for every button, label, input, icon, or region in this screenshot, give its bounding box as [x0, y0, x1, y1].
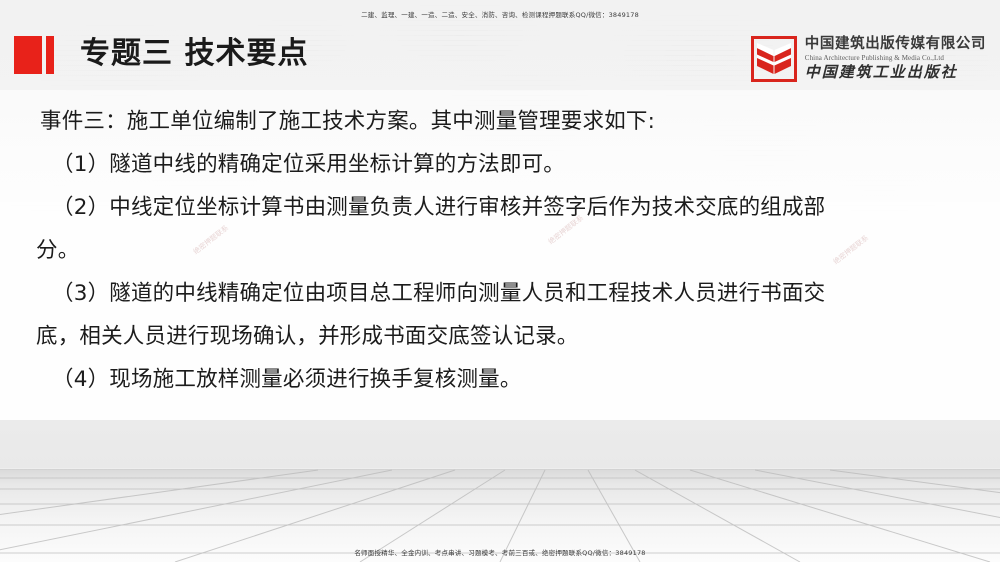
list-item-3-line-2: 底，相关人员进行现场确认，并形成书面交底签认记录。	[0, 315, 1000, 358]
list-item-2-line-2: 分。	[0, 229, 1000, 272]
watermark-bottom: 名师面授精华、全金内训、考点串讲、习题模考、考前三百或、绝密押题联系QQ/微信：…	[0, 547, 1000, 557]
list-item-4: （4）现场施工放样测量必须进行换手复核测量。	[0, 358, 1000, 401]
list-item-1: （1）隧道中线的精确定位采用坐标计算的方法即可。	[0, 143, 1000, 186]
list-item-2-line-1: （2）中线定位坐标计算书由测量负责人进行审核并签字后作为技术交底的组成部	[0, 186, 1000, 229]
accent-bar-wide	[14, 36, 42, 74]
logo-company-en: China Architecture Publishing & Media Co…	[805, 55, 986, 62]
logo-company-cn: 中国建筑出版传媒有限公司	[805, 37, 986, 52]
list-item-3-line-1: （3）隧道的中线精确定位由项目总工程师向测量人员和工程技术人员进行书面交	[0, 272, 1000, 315]
watermark-top: 二建、监理、一建、一造、二造、安全、消防、咨询、检测课程押题联系QQ/微信：38…	[0, 9, 1000, 19]
presentation-slide: 二建、监理、一建、一造、二造、安全、消防、咨询、检测课程押题联系QQ/微信：38…	[0, 0, 1000, 562]
slide-body: 事件三：施工单位编制了施工技术方案。其中测量管理要求如下: （1）隧道中线的精确…	[0, 100, 1000, 401]
open-book-icon	[751, 36, 797, 82]
page-title: 专题三 技术要点	[80, 32, 308, 76]
publisher-logo: 中国建筑出版传媒有限公司 China Architecture Publishi…	[751, 36, 986, 82]
lead-paragraph: 事件三：施工单位编制了施工技术方案。其中测量管理要求如下:	[0, 100, 1000, 143]
title-accent-bars	[14, 36, 54, 74]
logo-text-block: 中国建筑出版传媒有限公司 China Architecture Publishi…	[805, 37, 986, 80]
logo-press-cn: 中国建筑工业出版社	[805, 65, 986, 81]
accent-bar-narrow	[46, 36, 54, 74]
